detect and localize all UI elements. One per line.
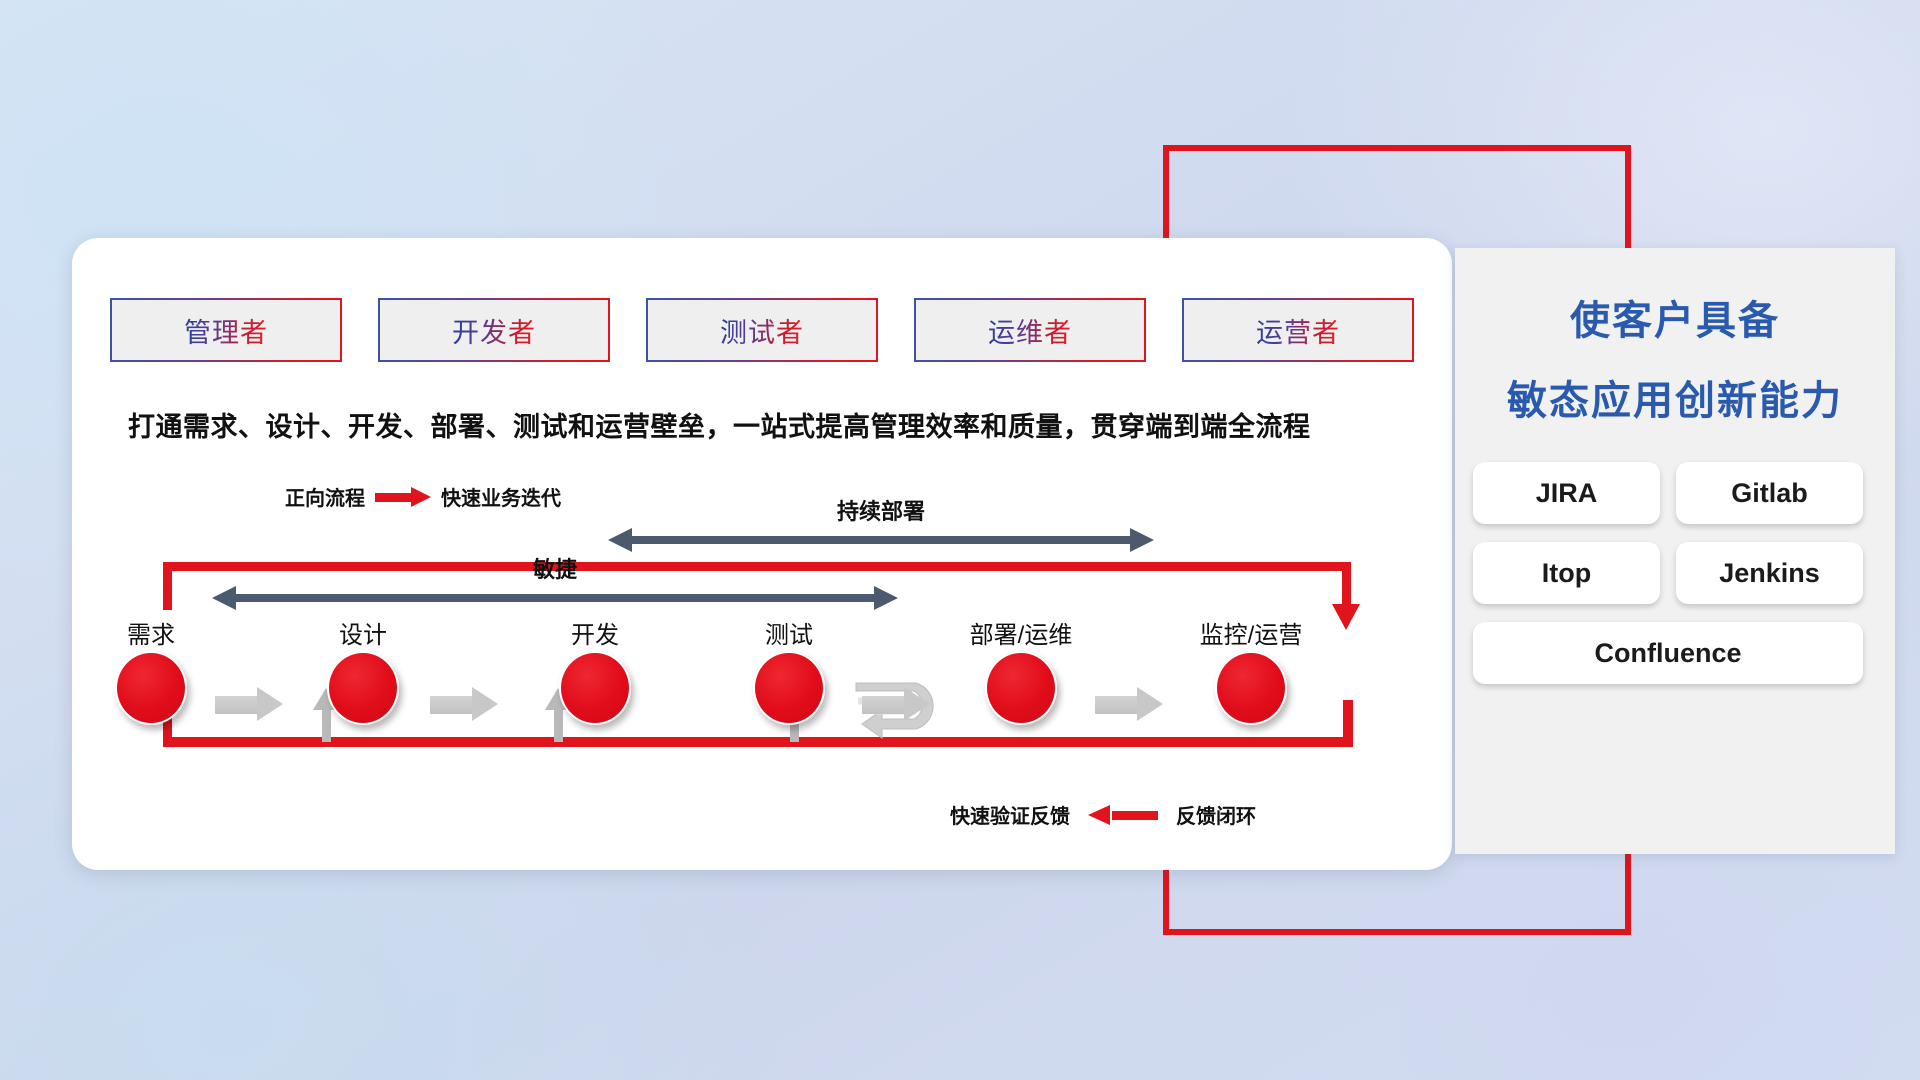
stage-label: 开发 (571, 615, 619, 650)
arrow-head-right-icon (874, 586, 898, 610)
span-agile: 敏捷 (212, 586, 898, 610)
panel-title-line2: 敏态应用创新能力 (1455, 368, 1895, 426)
stage-dot (753, 651, 825, 725)
role-label: 运维者 (988, 311, 1072, 350)
tool-chip-jira[interactable]: JIRA (1473, 462, 1660, 524)
flow-arrow-icon-4 (1095, 687, 1163, 721)
stage-dot (985, 651, 1057, 725)
role-label: 测试者 (720, 311, 804, 350)
stage-label: 测试 (765, 615, 813, 650)
capability-panel: 使客户具备 敏态应用创新能力 JIRA Gitlab Itop Jenkins … (1455, 248, 1895, 854)
stage-label: 需求 (127, 615, 175, 650)
role-box-operations-maintenance[interactable]: 运维者 (914, 298, 1146, 362)
stage-dot (327, 651, 399, 725)
arrow-head-left-icon (608, 528, 632, 552)
tool-chip-jenkins[interactable]: Jenkins (1676, 542, 1863, 604)
stage-label: 设计 (339, 615, 387, 650)
forward-flow-caption: 正向流程 快速业务迭代 (285, 482, 561, 511)
red-loop-right-stem (1342, 562, 1351, 610)
stage-label: 监控/运营 (1200, 615, 1303, 650)
flow-arrow-icon-3 (862, 687, 930, 721)
tool-chip-confluence[interactable]: Confluence (1473, 622, 1863, 684)
forward-flow-to-label: 快速业务迭代 (441, 482, 561, 511)
role-box-manager[interactable]: 管理者 (110, 298, 342, 362)
tool-chip-itop[interactable]: Itop (1473, 542, 1660, 604)
stage-label: 部署/运维 (970, 615, 1073, 650)
role-box-operator[interactable]: 运营者 (1182, 298, 1414, 362)
red-loop-bottom-line (163, 737, 1353, 747)
span-continuous-deployment: 持续部署 (608, 528, 1154, 552)
slide-canvas: 管理者 开发者 测试者 运维者 运营者 打通需求、设计、开发、部署、测试和运营壁… (0, 0, 1920, 1080)
span-label: 持续部署 (608, 494, 1154, 526)
role-box-row: 管理者 开发者 测试者 运维者 运营者 (110, 298, 1414, 362)
span-bar (234, 594, 876, 602)
flow-arrow-icon-1 (215, 687, 283, 721)
feedback-from-label: 快速验证反馈 (950, 800, 1070, 829)
span-bar (630, 536, 1132, 544)
span-label: 敏捷 (212, 552, 898, 584)
stage-dot (1215, 651, 1287, 725)
forward-flow-from-label: 正向流程 (285, 482, 365, 511)
tool-chip-gitlab[interactable]: Gitlab (1676, 462, 1863, 524)
feedback-to-label: 反馈闭环 (1176, 800, 1256, 829)
role-label: 运营者 (1256, 311, 1340, 350)
left-arrow-icon (1088, 805, 1158, 825)
panel-title-line1: 使客户具备 (1455, 288, 1895, 346)
arrow-head-right-icon (1130, 528, 1154, 552)
role-label: 开发者 (452, 311, 536, 350)
role-box-developer[interactable]: 开发者 (378, 298, 610, 362)
flow-arrow-icon-2 (430, 687, 498, 721)
stage-dot (115, 651, 187, 725)
role-box-tester[interactable]: 测试者 (646, 298, 878, 362)
headline-text: 打通需求、设计、开发、部署、测试和运营壁垒，一站式提高管理效率和质量，贯穿端到端… (128, 405, 1428, 444)
feedback-loop-caption: 快速验证反馈 反馈闭环 (950, 800, 1256, 829)
stage-dot (559, 651, 631, 725)
red-loop-top-left-corner (163, 562, 172, 610)
right-arrow-icon (375, 487, 431, 507)
arrow-head-left-icon (212, 586, 236, 610)
devops-pipeline: 需求 设计 开发 测试 部署/运维 监控/运营 (110, 615, 1430, 735)
tool-list: JIRA Gitlab Itop Jenkins Confluence (1455, 462, 1895, 684)
role-label: 管理者 (184, 311, 268, 350)
